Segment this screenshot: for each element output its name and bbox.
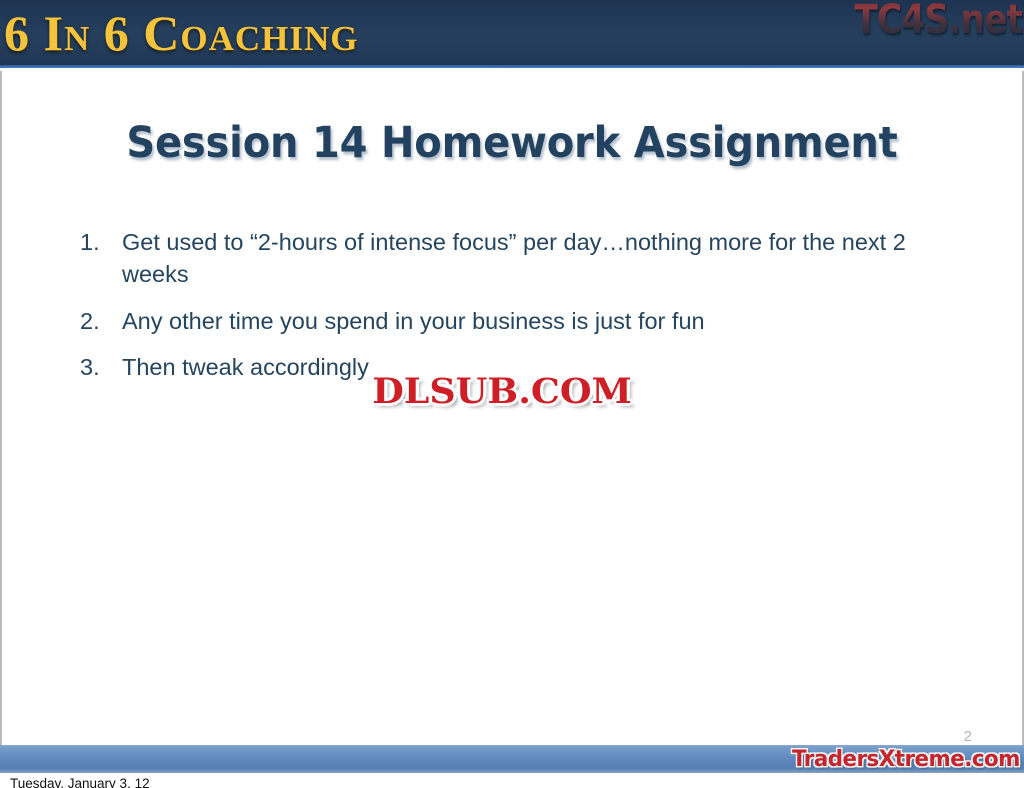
list-item-marker: 2. bbox=[80, 305, 122, 337]
tc4s-logo: TC4S.net bbox=[854, 0, 1022, 44]
footer-spacer bbox=[0, 773, 1024, 788]
page-title: Session 14 Homework Assignment bbox=[38, 118, 987, 168]
dlsub-watermark: DLSUB.COM bbox=[366, 369, 638, 416]
list-item: 1. Get used to “2-hours of intense focus… bbox=[80, 226, 980, 291]
presentation-slide: 6 In 6 Coaching TC4S.net Session 14 Home… bbox=[0, 0, 1024, 788]
list-item-text: Get used to “2-hours of intense focus” p… bbox=[122, 226, 977, 291]
list-item: 2. Any other time you spend in your busi… bbox=[80, 305, 980, 337]
footer-date: Tuesday, January 3, 12 bbox=[10, 776, 150, 788]
page-number: 2 bbox=[964, 728, 972, 745]
list-item-marker: 3. bbox=[80, 351, 122, 383]
slide-header-band: 6 In 6 Coaching TC4S.net bbox=[0, 0, 1024, 68]
list-item-text: Any other time you spend in your busines… bbox=[122, 305, 972, 337]
tradersxtreme-logo: TradersXtreme.com bbox=[792, 746, 1020, 774]
slide-footer-bar: TradersXtreme.com bbox=[0, 745, 1024, 775]
brand-title: 6 In 6 Coaching bbox=[4, 2, 358, 64]
list-item-marker: 1. bbox=[80, 226, 122, 258]
